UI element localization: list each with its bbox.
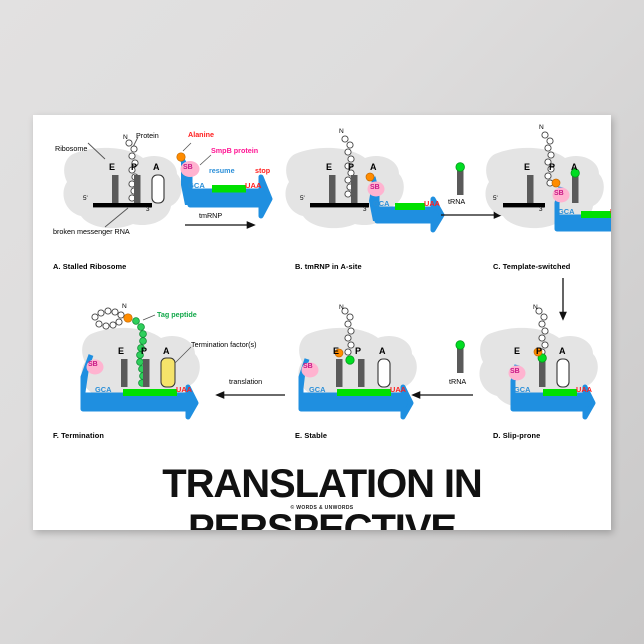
panel-c-template-switched — [485, 132, 611, 237]
legend-stop-label: stop — [255, 166, 270, 175]
page-title: TRANSLATION IN PERSPECTIVE — [33, 462, 611, 530]
panel-c-mrna-3prime: 3' — [539, 206, 544, 213]
panel-e-resume-codon: GCA — [309, 385, 325, 394]
panel-b-site-p: P — [348, 162, 354, 172]
panel-f-site-e: E — [118, 346, 124, 356]
panel-a-site-a: A — [153, 162, 160, 172]
arrow-e-to-f-label: translation — [229, 377, 262, 386]
panel-e-stable — [298, 308, 416, 417]
panel-b-site-a: A — [370, 162, 377, 172]
legend-resume-label: resume — [209, 166, 235, 175]
panel-f-annotation-tag-peptide: Tag peptide — [157, 310, 197, 319]
panel-c-site-a: A — [571, 162, 578, 172]
panel-c-site-e: E — [524, 162, 530, 172]
panel-c-smpb: SB — [554, 190, 564, 197]
panel-f-stop-codon: UAA — [176, 385, 192, 394]
legend-alanine: Alanine — [188, 130, 214, 139]
arrow-a-to-b-label: tmRNP — [199, 211, 222, 220]
credit-line: © WORDS & UNWORDS — [33, 505, 611, 511]
panel-b-stop-codon: UAA — [424, 199, 440, 208]
arrow-b-to-c-label: tRNA — [448, 197, 465, 206]
panel-b-mrna-3prime: 3' — [363, 206, 368, 213]
legend-resume-codon: GCA — [188, 181, 205, 190]
panel-c-mrna-5prime: 5' — [493, 195, 498, 202]
panel-d-site-p: P — [536, 346, 542, 356]
panel-d-site-a: A — [559, 346, 566, 356]
panel-f-site-a: A — [163, 346, 170, 356]
panel-d-slip-prone — [479, 308, 597, 417]
panel-b-resume-codon: GCA — [373, 199, 389, 208]
panel-a-annotation-ribosome: Ribosome — [55, 144, 87, 153]
panel-f-smpb: SB — [88, 361, 98, 368]
panel-e-stop-codon: UAA — [390, 385, 406, 394]
panel-c-site-p: P — [549, 162, 555, 172]
panel-a-site-e: E — [109, 162, 115, 172]
poster: Ribosome Protein N broken messenger RNA … — [33, 115, 611, 530]
panel-e-smpb: SB — [303, 363, 313, 370]
legend-smpb-short: SB — [183, 164, 193, 171]
panel-a-mrna-5prime: 5' — [83, 195, 88, 202]
panel-a-label: A. Stalled Ribosome — [53, 262, 126, 271]
panel-e-site-p: P — [355, 346, 361, 356]
panel-d-label: D. Slip-prone — [493, 431, 540, 440]
panel-d-resume-codon: GCA — [514, 385, 530, 394]
panel-c-label: C. Template-switched — [493, 262, 570, 271]
panel-c-stop-codon: UAA — [610, 207, 611, 216]
panel-f-annotation-termination-factor: Termination factor(s) — [191, 340, 257, 349]
arrow-d-to-e — [419, 341, 473, 395]
termination-factor-text: Termination factor(s) — [191, 340, 257, 349]
panel-e-label: E. Stable — [295, 431, 327, 440]
legend-smpb-protein: SmpB protein — [211, 146, 258, 155]
panel-a-annotation-protein: Protein — [136, 131, 159, 140]
panel-b-site-e: E — [326, 162, 332, 172]
panel-d-n-terminus: N — [533, 304, 538, 311]
panel-b-smpb: SB — [370, 184, 380, 191]
panel-f-label: F. Termination — [53, 431, 104, 440]
legend-stop-codon: UAA — [245, 181, 261, 190]
panel-a-site-p: P — [131, 162, 137, 172]
panel-f-termination — [81, 308, 199, 417]
panel-b-mrna-5prime: 5' — [300, 195, 305, 202]
panel-a-annotation-broken-mrna: broken messenger RNA — [53, 227, 130, 236]
panel-c-resume-codon: GCA — [558, 207, 574, 216]
panel-e-site-a: A — [379, 346, 386, 356]
arrow-d-to-e-label: tRNA — [449, 377, 466, 386]
panel-a-mrna-3prime: 3' — [146, 206, 151, 213]
panel-b-label: B. tmRNP in A-site — [295, 262, 362, 271]
panel-d-stop-codon: UAA — [576, 385, 592, 394]
panel-b-tmrnp-in-a-site — [285, 136, 442, 230]
panel-d-smpb: SB — [510, 368, 520, 375]
panel-f-n-terminus: N — [122, 303, 127, 310]
panel-e-n-terminus: N — [339, 304, 344, 311]
panel-e-site-e: E — [333, 346, 339, 356]
panel-a-n-terminus: N — [123, 134, 128, 141]
panel-f-site-p: P — [141, 346, 147, 356]
panel-d-site-e: E — [514, 346, 520, 356]
panel-c-n-terminus: N — [539, 124, 544, 131]
panel-b-n-terminus: N — [339, 128, 344, 135]
panel-f-resume-codon: GCA — [95, 385, 111, 394]
